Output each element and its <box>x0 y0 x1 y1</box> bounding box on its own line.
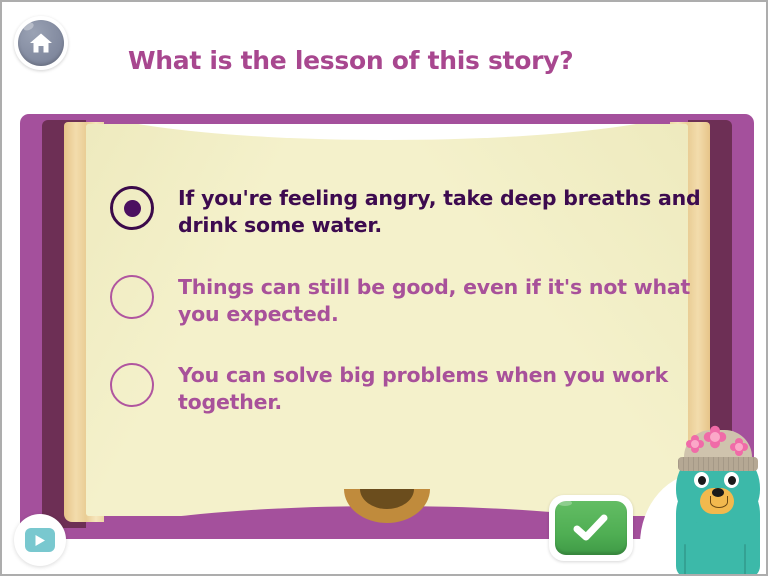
radio-button-1[interactable] <box>110 186 154 230</box>
hat-flower-1 <box>686 435 704 453</box>
submit-button-face <box>555 501 627 555</box>
answer-option-2[interactable]: Things can still be good, even if it's n… <box>110 273 710 329</box>
play-icon <box>34 534 46 547</box>
mascot-pupil-right <box>728 476 736 485</box>
radio-button-3[interactable] <box>110 363 154 407</box>
mascot-eye-right <box>724 472 739 488</box>
mascot-smile <box>710 496 728 508</box>
checkmark-icon <box>573 514 609 542</box>
answer-option-3-label: You can solve big problems when you work… <box>178 361 710 417</box>
answer-option-1[interactable]: If you're feeling angry, take deep breat… <box>110 184 710 240</box>
hat-flower-2 <box>704 426 727 449</box>
answer-options-list: If you're feeling angry, take deep breat… <box>110 184 710 450</box>
mascot-nose <box>712 488 724 497</box>
answer-option-2-label: Things can still be good, even if it's n… <box>178 273 710 329</box>
submit-button-gloss <box>558 500 572 506</box>
answer-option-3[interactable]: You can solve big problems when you work… <box>110 361 710 417</box>
hat-flower-3 <box>730 438 748 456</box>
mascot-arm-right <box>744 544 746 576</box>
home-icon <box>29 32 53 54</box>
submit-button[interactable] <box>549 495 633 561</box>
page-title: What is the lesson of this story? <box>128 46 573 75</box>
mascot-arm-left <box>684 544 686 576</box>
play-button[interactable] <box>14 514 66 566</box>
radio-selected-dot <box>124 200 141 217</box>
mascot-eye-left <box>694 472 709 488</box>
otter-mascot <box>662 426 768 576</box>
home-button[interactable] <box>14 16 68 70</box>
mascot-hat-brim-texture <box>678 457 758 471</box>
answer-option-1-label: If you're feeling angry, take deep breat… <box>178 184 710 240</box>
play-button-pad <box>25 528 55 552</box>
book-illustration: If you're feeling angry, take deep breat… <box>20 114 754 539</box>
mascot-pupil-left <box>698 476 706 485</box>
app-screen: If you're feeling angry, take deep breat… <box>0 0 768 576</box>
radio-button-2[interactable] <box>110 275 154 319</box>
